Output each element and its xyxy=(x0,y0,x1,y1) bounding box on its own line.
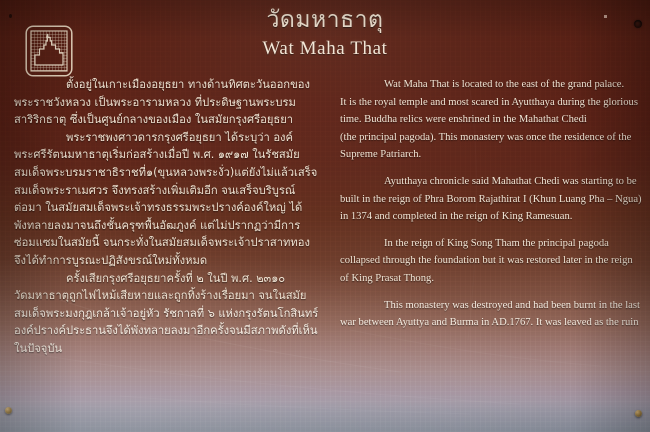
page-title-thai: วัดมหาธาตุ xyxy=(0,6,650,34)
english-text-line: This monastery was destroyed and had bee… xyxy=(340,297,636,315)
thai-text-line: สมเด็จพระราเมศวร จึงทรงสร้างเพิ่มเติมอีก… xyxy=(14,182,318,200)
thai-text-line: วัดมหาธาตุถูกไฟไหม้เสียหายและถูกทิ้งร้าง… xyxy=(14,287,318,305)
english-text-line: collapsed through the foundation but it … xyxy=(340,252,636,270)
paragraph-gap xyxy=(340,226,636,235)
thai-text-line: จึงได้ทำการบูรณะปฏิสังขรณ์ใหม่ทั้งหมด xyxy=(14,252,318,270)
english-text-line: time. Buddha relics were enshrined in th… xyxy=(340,111,636,129)
thai-text-line: พังทลายลงมาจนถึงชั้นครุฑพื้นอัฒภูงค์ แต่… xyxy=(14,217,318,235)
thai-text-line: พระราชวังหลวง เป็นพระอารามหลวง ที่ประดิษ… xyxy=(14,94,318,112)
english-text-line: Supreme Patriarch. xyxy=(340,146,636,164)
thai-text-line: สาริริกธาตุ ซึ่งเป็นศูนย์กลางของเมือง ใน… xyxy=(14,111,318,129)
english-text-line: Wat Maha That is located to the east of … xyxy=(340,76,636,94)
thai-text-line: สมเด็จพระมงกุฎเกล้าเจ้าอยู่หัว รัชกาลที่… xyxy=(14,305,318,323)
surface-glint-top-right xyxy=(604,15,607,18)
english-text-line: war between Ayuttya and Burma in AD.1767… xyxy=(340,314,636,332)
english-text-line: It is the royal temple and most scared i… xyxy=(340,94,636,112)
english-text-line: of King Prasat Thong. xyxy=(340,270,636,288)
thai-text-line: พระราชพงศาวดารกรุงศรีอยุธยา ได้ระบุว่า อ… xyxy=(14,129,318,147)
page-title-english: Wat Maha That xyxy=(0,38,650,60)
brass-bolt-bottom-left xyxy=(5,407,12,414)
thai-text-line: ครั้งเสียกรุงศรีอยุธยาครั้งที่ ๒ ในปี พ.… xyxy=(14,270,318,288)
thai-text-line: ต่อมา ในสมัยสมเด็จพระเจ้าทรงธรรมพระปรางค… xyxy=(14,199,318,217)
english-text-column: Wat Maha That is located to the east of … xyxy=(330,76,650,386)
information-plaque: วัดมหาธาตุ Wat Maha That ตั้งอยู่ในเกาะเ… xyxy=(0,0,650,432)
surface-blemish-top-left xyxy=(9,14,12,18)
english-text-line: (the principal pagoda). This monastery w… xyxy=(340,129,636,147)
title-block: วัดมหาธาตุ Wat Maha That xyxy=(0,6,650,60)
thai-text-line: พระศรีรัตนมหาธาตุเริ่มก่อสร้างเมื่อปี พ.… xyxy=(14,146,318,164)
english-text-line: In the reign of King Song Tham the princ… xyxy=(340,235,636,253)
mounting-hole-top-right xyxy=(634,20,642,28)
english-text-line: in 1374 and completed in the reign of Ki… xyxy=(340,208,636,226)
paragraph-gap xyxy=(340,164,636,173)
thai-text-line: ตั้งอยู่ในเกาะเมืองอยุธยา ทางด้านทิศตะวั… xyxy=(14,76,318,94)
body-columns: ตั้งอยู่ในเกาะเมืองอยุธยา ทางด้านทิศตะวั… xyxy=(0,76,650,386)
thai-text-line: ในปัจจุบัน xyxy=(14,340,318,358)
thai-text-column: ตั้งอยู่ในเกาะเมืองอยุธยา ทางด้านทิศตะวั… xyxy=(0,76,330,386)
thai-text-line: ซ่อมแซมในสมัยนี้ จนกระทั่งในสมัยสมเด็จพร… xyxy=(14,234,318,252)
english-text-line: Ayutthaya chronicle said Mahathat Chedi … xyxy=(340,173,636,191)
thai-text-line: องค์ปรางค์ประธานจึงได้พังทลายลงมาอีกครั้… xyxy=(14,322,318,340)
brass-bolt-bottom-right xyxy=(635,410,642,417)
english-text-line: built in the reign of Phra Borom Rajathi… xyxy=(340,191,636,209)
paragraph-gap xyxy=(340,288,636,297)
thai-text-line: สมเด็จพระบรมราชาธิราชที่๑(ขุนหลวงพระงั่ว… xyxy=(14,164,318,182)
